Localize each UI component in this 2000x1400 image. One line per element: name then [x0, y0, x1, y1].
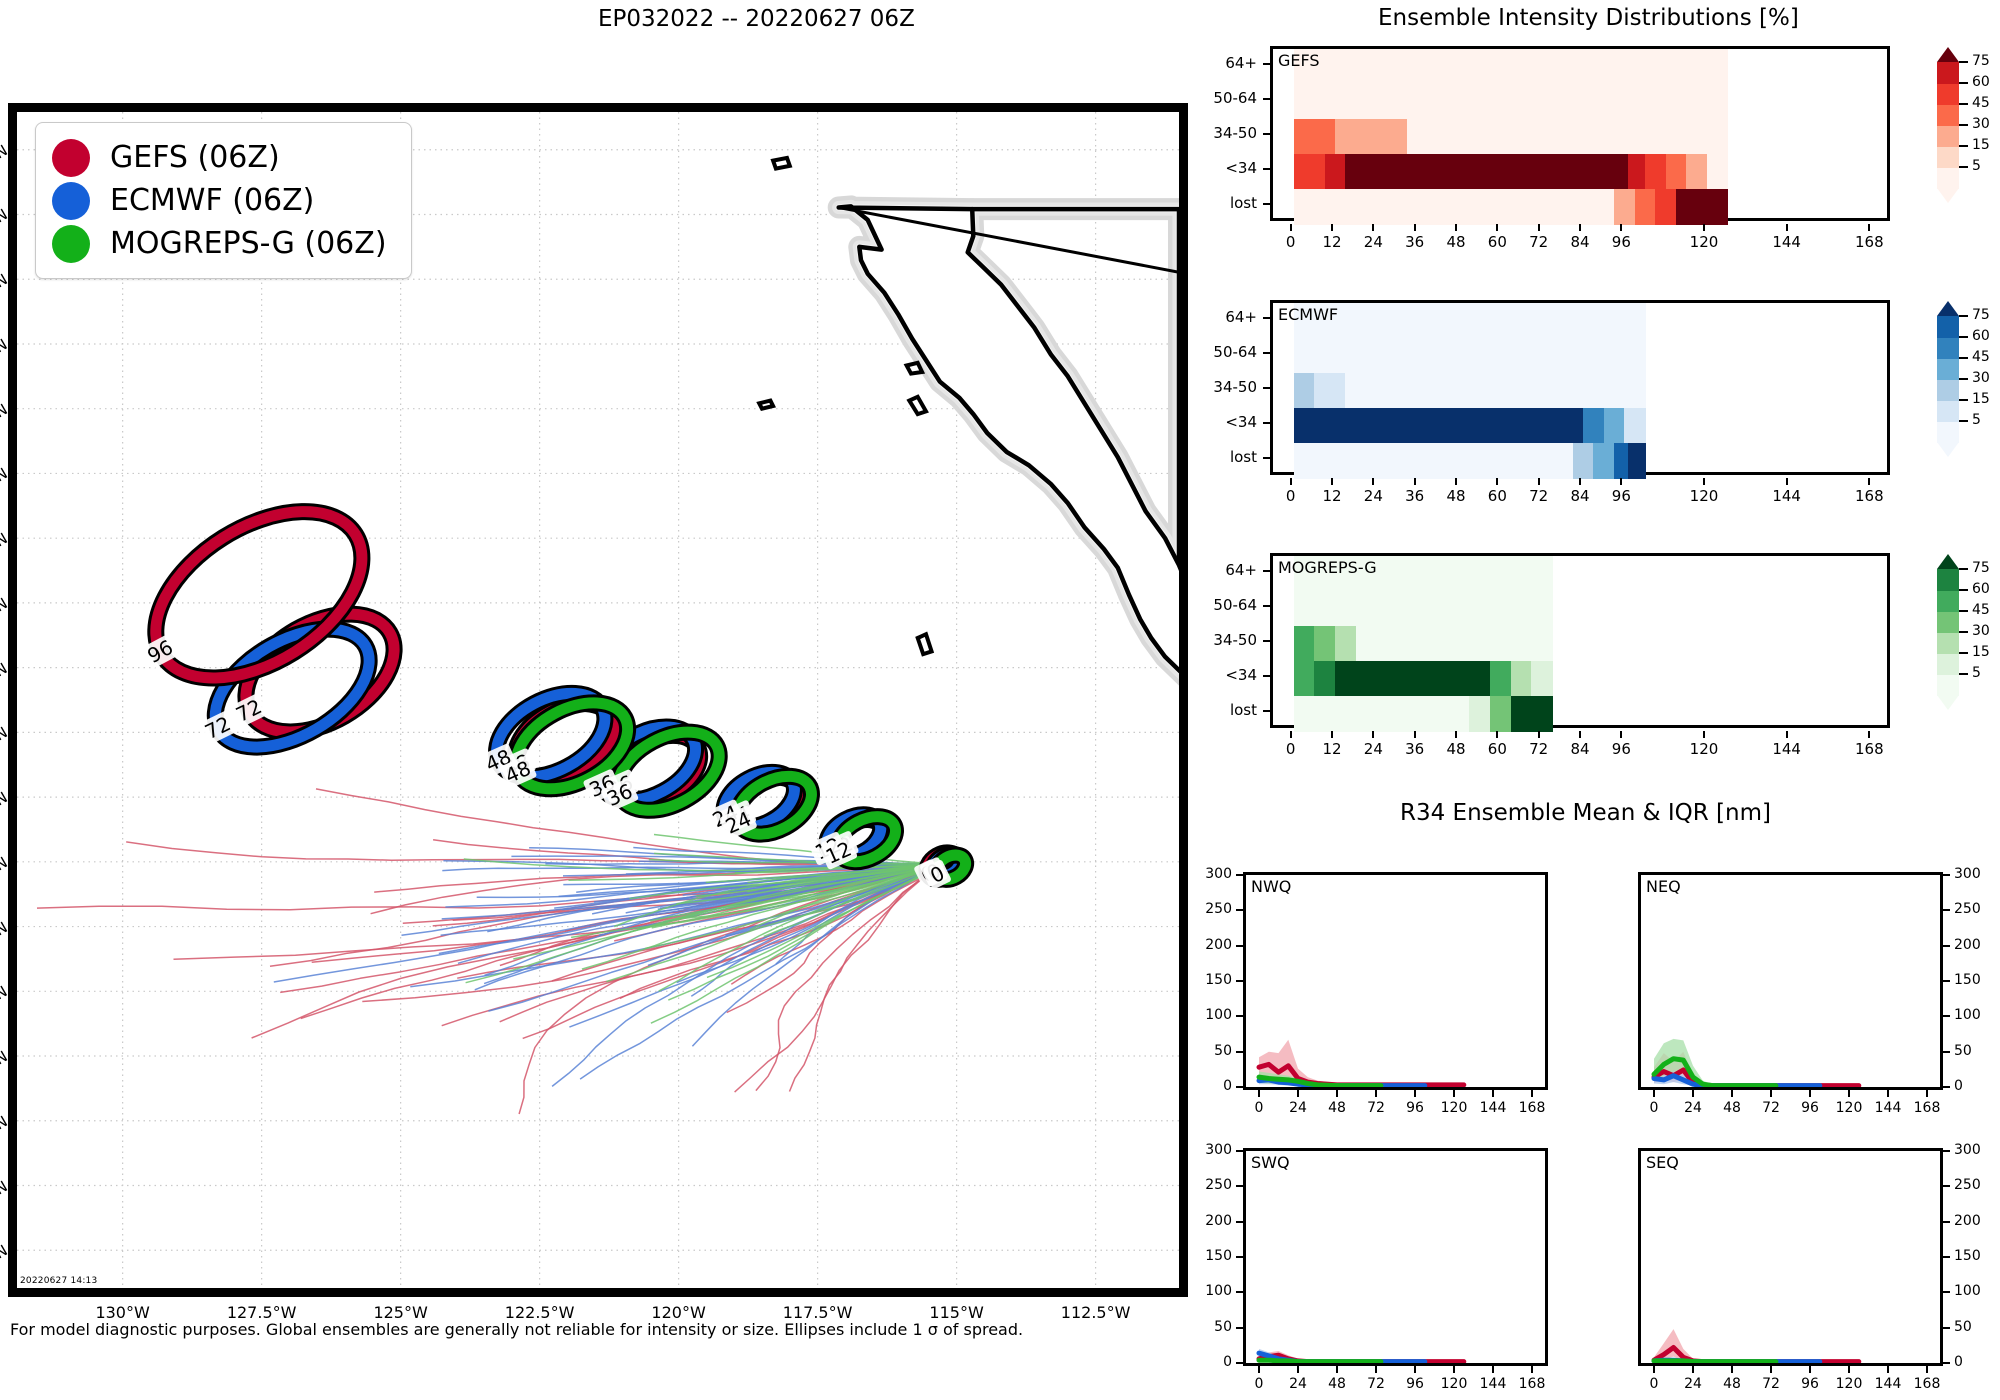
legend-label-ecmwf: ECMWF (06Z) [110, 183, 314, 218]
legend-label-gefs: GEFS (06Z) [110, 140, 280, 175]
heatmap-cell [1676, 189, 1728, 225]
intensity-x-tickmark [1455, 224, 1457, 231]
r34-y-tickmark [1236, 1327, 1243, 1329]
colorbar-segment [1937, 104, 1959, 126]
intensity-x-tickmark [1414, 731, 1416, 738]
heatmap-cell [1686, 154, 1707, 190]
intensity-y-tickmark [1263, 640, 1270, 642]
colorbar-segment [1937, 674, 1959, 696]
colorbar-tickmark [1959, 568, 1968, 570]
intensity-x-tick: 48 [1446, 233, 1465, 251]
r34-x-tick: 96 [1406, 1100, 1424, 1116]
forecast-track-map[interactable]: 000121212242424363636484848727296 GEFS (… [8, 103, 1188, 1297]
colorbar-max-arrow-icon [1937, 554, 1959, 569]
r34-y-tickmark [1943, 980, 1950, 982]
intensity-x-tick: 168 [1855, 740, 1884, 758]
colorbar-tickmark [1959, 673, 1968, 675]
heatmap-cell [1655, 189, 1676, 225]
r34-y-tickmark [1943, 1256, 1950, 1258]
colorbar-segment [1937, 316, 1959, 338]
intensity-x-tick: 24 [1364, 487, 1383, 505]
intensity-x-tickmark [1786, 731, 1788, 738]
r34-panel-neq[interactable]: NEQ [1638, 872, 1943, 1090]
intensity-x-tickmark [1331, 731, 1333, 738]
intensity-x-tickmark [1496, 478, 1498, 485]
r34-x-tickmark [1258, 1090, 1260, 1097]
heatmap-cell [1583, 408, 1604, 444]
intensity-x-tickmark [1331, 478, 1333, 485]
map-graphics: 000121212242424363636484848727296 [17, 112, 1179, 1288]
r34-y-tickmark [1236, 909, 1243, 911]
colorbar-tickmark [1959, 378, 1968, 380]
r34-series-plot [1641, 875, 1940, 1087]
r34-x-tick: 120 [1441, 1376, 1468, 1392]
colorbar-segment [1937, 125, 1959, 147]
intensity-y-tick: 34-50 [1213, 378, 1257, 396]
intensity-y-tick: 64+ [1225, 561, 1257, 579]
intensity-x-tickmark [1372, 731, 1374, 738]
r34-y-tickmark [1943, 1051, 1950, 1053]
r34-x-tick: 168 [1914, 1376, 1941, 1392]
r34-x-tick: 0 [1255, 1376, 1264, 1392]
intensity-x-tick: 72 [1529, 487, 1548, 505]
heatmap-cell [1407, 119, 1728, 155]
heatmap-cell [1469, 696, 1490, 732]
r34-y-tickmark [1943, 1362, 1950, 1364]
intensity-y-tick: 34-50 [1213, 631, 1257, 649]
intensity-colorbar [1937, 62, 1959, 188]
heatmap-cell [1531, 661, 1552, 697]
heatmap-cell [1356, 119, 1408, 155]
r34-x-tick: 144 [1480, 1100, 1507, 1116]
colorbar-tickmark [1959, 610, 1968, 612]
r34-y-tick: 250 [1954, 1177, 1981, 1193]
r34-y-tickmark [1236, 1221, 1243, 1223]
intensity-x-tick: 60 [1488, 487, 1507, 505]
r34-x-tickmark [1887, 1366, 1889, 1373]
intensity-y-tick: <34 [1225, 413, 1257, 431]
r34-y-tickmark [1236, 1051, 1243, 1053]
r34-x-tickmark [1336, 1090, 1338, 1097]
r34-x-tick: 24 [1684, 1100, 1702, 1116]
intensity-x-tick: 96 [1612, 487, 1631, 505]
r34-y-tick: 50 [1954, 1043, 1972, 1059]
colorbar-tickmark [1959, 61, 1968, 63]
heatmap-cell [1314, 373, 1346, 409]
r34-x-tickmark [1692, 1090, 1694, 1097]
intensity-x-tickmark [1620, 478, 1622, 485]
colorbar-tick-label: 30 [1972, 116, 1990, 132]
r34-x-tick: 48 [1328, 1376, 1346, 1392]
r34-y-tick: 100 [1954, 1283, 1981, 1299]
colorbar-tick-label: 60 [1972, 74, 1990, 90]
colorbar-segment [1937, 358, 1959, 380]
heatmap-cell [1628, 154, 1646, 190]
heatmap-cell [1335, 119, 1356, 155]
r34-y-tick: 150 [1954, 1248, 1981, 1264]
intensity-heatmap [1273, 49, 1887, 218]
mogreps-color-swatch-icon [52, 225, 90, 263]
heatmap-cell [1593, 443, 1614, 479]
r34-x-tickmark [1926, 1366, 1928, 1373]
heatmap-cell [1294, 84, 1729, 120]
intensity-y-tickmark [1263, 317, 1270, 319]
intensity-y-tick: lost [1230, 448, 1257, 466]
legend-item-gefs: GEFS (06Z) [52, 136, 387, 179]
intensity-x-tick: 0 [1286, 487, 1296, 505]
colorbar-min-arrow-icon [1937, 442, 1959, 457]
intensity-y-tickmark [1263, 203, 1270, 205]
r34-y-tickmark [1236, 1185, 1243, 1187]
r34-x-tick: 96 [1801, 1100, 1819, 1116]
intensity-y-tickmark [1263, 457, 1270, 459]
r34-x-tickmark [1770, 1090, 1772, 1097]
r34-x-tick: 0 [1650, 1100, 1659, 1116]
r34-x-tickmark [1414, 1090, 1416, 1097]
intensity-panel-label: GEFS [1278, 51, 1320, 70]
colorbar-tick-label: 75 [1972, 560, 1990, 576]
intensity-x-tickmark [1786, 224, 1788, 231]
intensity-y-tickmark [1263, 63, 1270, 65]
intensity-y-tick: 64+ [1225, 54, 1257, 72]
intensity-x-tick: 144 [1772, 740, 1801, 758]
r34-x-tickmark [1653, 1090, 1655, 1097]
r34-y-tickmark [1943, 1327, 1950, 1329]
heatmap-cell [1490, 696, 1511, 732]
r34-x-tick: 0 [1650, 1376, 1659, 1392]
gefs-color-swatch-icon [52, 139, 90, 177]
intensity-x-tickmark [1868, 731, 1870, 738]
r34-y-tick: 100 [1205, 1007, 1232, 1023]
r34-y-tickmark [1236, 1256, 1243, 1258]
r34-x-tick: 48 [1723, 1376, 1741, 1392]
heatmap-cell [1345, 154, 1628, 190]
intensity-colorbar [1937, 316, 1959, 442]
colorbar-tickmark [1959, 357, 1968, 359]
r34-x-tick: 96 [1406, 1376, 1424, 1392]
colorbar-segment [1937, 590, 1959, 612]
colorbar-tickmark [1959, 652, 1968, 654]
r34-x-tickmark [1297, 1366, 1299, 1373]
intensity-x-tick: 24 [1364, 233, 1383, 251]
intensity-x-tickmark [1331, 224, 1333, 231]
colorbar-tick-label: 15 [1972, 391, 1990, 407]
intensity-x-tick: 36 [1405, 740, 1424, 758]
r34-y-tick: 0 [1954, 1078, 1963, 1094]
intensity-x-tickmark [1496, 224, 1498, 231]
r34-x-tick: 72 [1367, 1100, 1385, 1116]
heatmap-cell [1294, 338, 1646, 374]
r34-y-tickmark [1236, 945, 1243, 947]
r34-x-tick: 144 [1875, 1376, 1902, 1392]
heatmap-cell [1335, 626, 1356, 662]
intensity-x-tick: 120 [1690, 233, 1719, 251]
intensity-y-tick: 50-64 [1213, 89, 1257, 107]
heatmap-cell [1645, 154, 1666, 190]
intensity-x-tick: 0 [1286, 233, 1296, 251]
ecmwf-color-swatch-icon [52, 182, 90, 220]
colorbar-segment [1937, 653, 1959, 675]
intensity-x-tickmark [1620, 224, 1622, 231]
colorbar-tick-label: 75 [1972, 53, 1990, 69]
intensity-x-tickmark [1455, 478, 1457, 485]
colorbar-tickmark [1959, 82, 1968, 84]
r34-y-tick: 300 [1954, 866, 1981, 882]
intensity-x-tick: 48 [1446, 740, 1465, 758]
intensity-y-tickmark [1263, 710, 1270, 712]
r34-panel-label: NEQ [1646, 877, 1681, 896]
r34-section-title: R34 Ensemble Mean & IQR [nm] [1400, 800, 1771, 826]
heatmap-cell [1666, 154, 1687, 190]
r34-y-tick: 100 [1205, 1283, 1232, 1299]
heatmap-cell [1294, 303, 1646, 339]
colorbar-tickmark [1959, 166, 1968, 168]
r34-x-tick: 144 [1875, 1100, 1902, 1116]
legend-label-mogreps: MOGREPS-G (06Z) [110, 226, 387, 261]
heatmap-cell [1314, 661, 1335, 697]
r34-x-tick: 24 [1289, 1376, 1307, 1392]
r34-x-tickmark [1453, 1366, 1455, 1373]
intensity-x-tickmark [1372, 224, 1374, 231]
r34-x-tick: 24 [1684, 1376, 1702, 1392]
colorbar-segment [1937, 83, 1959, 105]
r34-panel-seq[interactable]: SEQ [1638, 1148, 1943, 1366]
intensity-panel-ecmwf[interactable]: ECMWF [1270, 300, 1890, 475]
intensity-x-tick: 48 [1446, 487, 1465, 505]
r34-y-tickmark [1943, 874, 1950, 876]
intensity-x-tick: 0 [1286, 740, 1296, 758]
intensity-colorbar [1937, 569, 1959, 695]
intensity-section-title: Ensemble Intensity Distributions [%] [1378, 5, 1799, 31]
r34-x-tickmark [1809, 1090, 1811, 1097]
heatmap-cell [1614, 189, 1635, 225]
generation-timestamp: 20220627 14:13 [20, 1276, 97, 1286]
colorbar-segment [1937, 379, 1959, 401]
intensity-y-tickmark [1263, 605, 1270, 607]
r34-y-tick: 150 [1205, 972, 1232, 988]
r34-y-tick: 0 [1223, 1354, 1232, 1370]
lon-tick-label: 112.5°W [1061, 1303, 1131, 1322]
r34-y-tick: 300 [1205, 866, 1232, 882]
intensity-x-tickmark [1414, 224, 1416, 231]
heatmap-cell [1511, 696, 1553, 732]
colorbar-segment [1937, 167, 1959, 189]
heatmap-cell [1294, 661, 1315, 697]
r34-y-tickmark [1943, 1221, 1950, 1223]
legend-item-ecmwf: ECMWF (06Z) [52, 179, 387, 222]
r34-y-tick: 300 [1954, 1142, 1981, 1158]
intensity-x-tickmark [1703, 224, 1705, 231]
intensity-panel-gefs[interactable]: GEFS [1270, 46, 1890, 221]
heatmap-cell [1573, 443, 1594, 479]
intensity-panel-mogreps-g[interactable]: MOGREPS-G [1270, 553, 1890, 728]
intensity-x-tick: 168 [1855, 233, 1884, 251]
intensity-panel-label: ECMWF [1278, 305, 1338, 324]
r34-x-tickmark [1336, 1366, 1338, 1373]
r34-x-tickmark [1297, 1090, 1299, 1097]
intensity-x-tickmark [1620, 731, 1622, 738]
r34-x-tick: 0 [1255, 1100, 1264, 1116]
intensity-panel-label: MOGREPS-G [1278, 558, 1377, 577]
r34-y-tickmark [1943, 1015, 1950, 1017]
r34-x-tick: 48 [1328, 1100, 1346, 1116]
r34-x-tickmark [1492, 1366, 1494, 1373]
intensity-x-tick: 12 [1322, 740, 1341, 758]
intensity-x-tick: 96 [1612, 740, 1631, 758]
r34-panel-label: SEQ [1646, 1153, 1679, 1172]
intensity-x-tick: 60 [1488, 233, 1507, 251]
colorbar-tickmark [1959, 315, 1968, 317]
colorbar-tickmark [1959, 124, 1968, 126]
r34-x-tickmark [1531, 1366, 1533, 1373]
colorbar-tick-label: 60 [1972, 581, 1990, 597]
intensity-x-tickmark [1868, 478, 1870, 485]
intensity-x-tick: 72 [1529, 740, 1548, 758]
intensity-y-tick: <34 [1225, 159, 1257, 177]
intensity-y-tickmark [1263, 422, 1270, 424]
r34-x-tickmark [1770, 1366, 1772, 1373]
colorbar-tickmark [1959, 420, 1968, 422]
r34-x-tick: 120 [1836, 1100, 1863, 1116]
r34-y-tick: 200 [1205, 937, 1232, 953]
intensity-y-tickmark [1263, 675, 1270, 677]
r34-x-tickmark [1258, 1366, 1260, 1373]
intensity-x-tickmark [1290, 478, 1292, 485]
intensity-y-tick: 50-64 [1213, 596, 1257, 614]
r34-y-tickmark [1236, 1150, 1243, 1152]
intensity-x-tickmark [1703, 731, 1705, 738]
heatmap-cell [1294, 591, 1553, 627]
colorbar-tickmark [1959, 399, 1968, 401]
r34-y-tick: 200 [1205, 1213, 1232, 1229]
r34-x-tick: 168 [1914, 1100, 1941, 1116]
heatmap-cell [1490, 661, 1511, 697]
r34-x-tickmark [1887, 1090, 1889, 1097]
r34-y-tick: 50 [1214, 1319, 1232, 1335]
colorbar-tick-label: 45 [1972, 95, 1990, 111]
r34-series-plot [1246, 1151, 1545, 1363]
colorbar-segment [1937, 146, 1959, 168]
intensity-x-tickmark [1496, 731, 1498, 738]
intensity-x-tick: 60 [1488, 740, 1507, 758]
colorbar-tickmark [1959, 336, 1968, 338]
r34-y-tickmark [1236, 874, 1243, 876]
r34-x-tickmark [1809, 1366, 1811, 1373]
heatmap-cell [1635, 189, 1656, 225]
intensity-x-tickmark [1414, 478, 1416, 485]
intensity-x-tick: 24 [1364, 740, 1383, 758]
colorbar-tickmark [1959, 145, 1968, 147]
heatmap-cell [1314, 626, 1335, 662]
heatmap-cell [1294, 154, 1326, 190]
colorbar-segment [1937, 421, 1959, 443]
r34-y-tickmark [1943, 1291, 1950, 1293]
intensity-x-tick: 84 [1570, 487, 1589, 505]
intensity-x-tick: 96 [1612, 233, 1631, 251]
r34-x-tickmark [1926, 1090, 1928, 1097]
r34-y-tick: 100 [1954, 1007, 1981, 1023]
intensity-x-tickmark [1868, 224, 1870, 231]
intensity-x-tick: 168 [1855, 487, 1884, 505]
intensity-x-tick: 36 [1405, 233, 1424, 251]
heatmap-cell [1624, 408, 1645, 444]
intensity-x-tickmark [1579, 731, 1581, 738]
r34-y-tick: 300 [1205, 1142, 1232, 1158]
intensity-x-tick: 72 [1529, 233, 1548, 251]
r34-y-tick: 150 [1205, 1248, 1232, 1264]
intensity-x-tickmark [1290, 731, 1292, 738]
colorbar-min-arrow-icon [1937, 188, 1959, 203]
r34-x-tick: 168 [1519, 1376, 1546, 1392]
intensity-x-tickmark [1538, 478, 1540, 485]
heatmap-cell [1294, 626, 1315, 662]
r34-x-tick: 168 [1519, 1100, 1546, 1116]
r34-y-tickmark [1236, 1086, 1243, 1088]
map-title: EP032022 -- 20220627 06Z [598, 6, 915, 32]
r34-y-tick: 150 [1954, 972, 1981, 988]
r34-x-tick: 72 [1367, 1376, 1385, 1392]
r34-y-tick: 50 [1214, 1043, 1232, 1059]
intensity-x-tick: 120 [1690, 740, 1719, 758]
r34-panel-nwq[interactable]: NWQ [1243, 872, 1548, 1090]
colorbar-tick-label: 5 [1972, 158, 1981, 174]
colorbar-min-arrow-icon [1937, 695, 1959, 710]
r34-x-tickmark [1531, 1090, 1533, 1097]
r34-y-tick: 50 [1954, 1319, 1972, 1335]
r34-x-tickmark [1731, 1090, 1733, 1097]
intensity-y-tick: 34-50 [1213, 124, 1257, 142]
heatmap-cell [1614, 443, 1628, 479]
r34-x-tick: 72 [1762, 1376, 1780, 1392]
intensity-y-tickmark [1263, 352, 1270, 354]
r34-x-tickmark [1453, 1090, 1455, 1097]
r34-y-tick: 0 [1954, 1354, 1963, 1370]
intensity-x-tickmark [1372, 478, 1374, 485]
colorbar-tick-label: 15 [1972, 137, 1990, 153]
intensity-x-tickmark [1579, 224, 1581, 231]
r34-x-tickmark [1692, 1366, 1694, 1373]
heatmap-cell [1294, 373, 1315, 409]
r34-x-tick: 24 [1289, 1100, 1307, 1116]
r34-x-tick: 48 [1723, 1100, 1741, 1116]
intensity-y-tickmark [1263, 168, 1270, 170]
r34-y-tickmark [1236, 1015, 1243, 1017]
colorbar-segment [1937, 400, 1959, 422]
r34-y-tickmark [1943, 1150, 1950, 1152]
r34-y-tickmark [1943, 945, 1950, 947]
r34-x-tickmark [1848, 1090, 1850, 1097]
intensity-y-tickmark [1263, 570, 1270, 572]
heatmap-cell [1356, 626, 1553, 662]
heatmap-cell [1628, 443, 1646, 479]
heatmap-cell [1511, 661, 1532, 697]
r34-x-tick: 96 [1801, 1376, 1819, 1392]
r34-y-tickmark [1943, 1086, 1950, 1088]
heatmap-cell [1294, 49, 1729, 85]
intensity-x-tick: 144 [1772, 487, 1801, 505]
r34-x-tickmark [1375, 1090, 1377, 1097]
map-canvas[interactable]: 000121212242424363636484848727296 [17, 112, 1179, 1288]
colorbar-tick-label: 45 [1972, 602, 1990, 618]
colorbar-tick-label: 30 [1972, 370, 1990, 386]
r34-x-tick: 120 [1441, 1100, 1468, 1116]
r34-panel-swq[interactable]: SWQ [1243, 1148, 1548, 1366]
colorbar-tick-label: 5 [1972, 412, 1981, 428]
heatmap-cell [1294, 189, 1615, 225]
colorbar-segment [1937, 611, 1959, 633]
r34-y-tick: 200 [1954, 1213, 1981, 1229]
r34-y-tickmark [1236, 980, 1243, 982]
